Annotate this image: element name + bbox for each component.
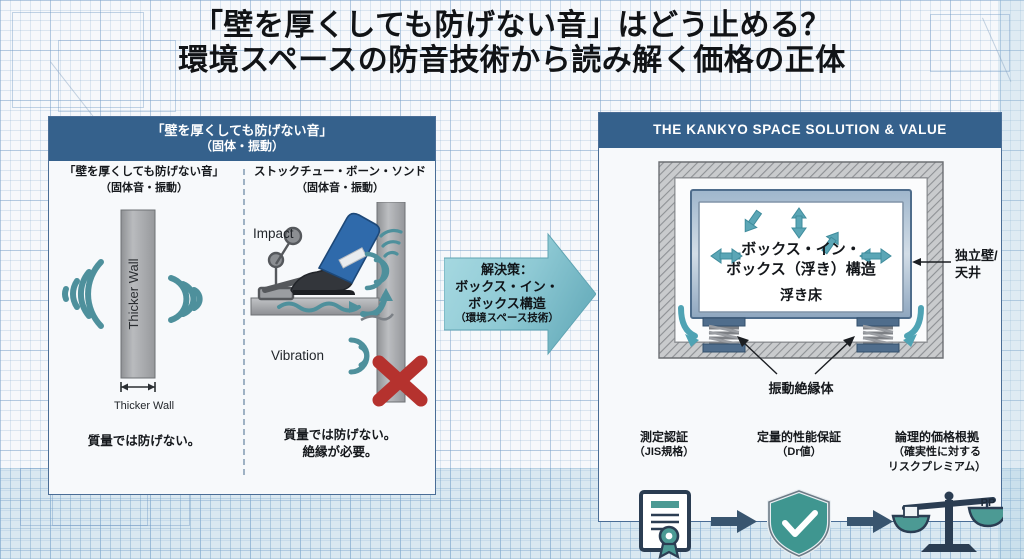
solution-arrow: 解決策： ボックス・イン・ ボックス構造 （環境スペース技術） [444,232,596,356]
metric-pricing-sub-1: （確実性に対する [875,445,999,459]
problem-column-impact-caption-line-1: 質量では防げない。 [245,427,435,444]
problem-column-airborne-title-line-1: 「壁を厚くしても防げない音」 [49,165,239,181]
wall-callout-line-1: 独立壁/ [955,248,1007,265]
certificate-icon [641,492,689,557]
impact-label-text: Impact [253,226,294,241]
solution-card: THE KANKYO SPACE SOLUTION & VALUE [598,112,1002,522]
inner-label-line-2: ボックス（浮き）構造 [726,260,876,278]
isolator-callout-label: 振動絶縁体 [599,378,1003,397]
solution-arrow-line-3: ボックス構造 [468,296,546,313]
metric-column-certification: 測定認証 （JIS規格） [609,430,719,460]
problem-column-impact-caption: 質量では防げない。 絶縁が必要。 [245,427,435,461]
inner-label-line-1: ボックス・イン・ [741,241,861,258]
right-arrow-icon-2 [847,510,893,533]
wall-callout-label: 独立壁/ 天井 [955,248,1007,282]
page-title: 「壁を厚くしても防げない音」はどう止める？ 環境スペースの防音技術から読み解く価… [0,8,1024,79]
problem-column-impact-caption-line-2: 絶縁が必要。 [245,444,435,461]
problem-card-body: 「壁を厚くしても防げない音」 （固体音・振動） [49,161,435,483]
balance-scale-icon: PP [893,491,1003,552]
problem-card: 「壁を厚くしても防げない音」 （固体・振動） 「壁を厚くしても防げない音」 （固… [48,116,436,495]
problem-card-header-line-2: （固体・振動） [53,139,431,154]
solution-arrow-line-4: （環境スペース技術） [455,312,559,325]
problem-column-airborne-caption-line-1: 質量では防げない。 [49,433,239,450]
problem-column-impact-title-line-1: ストックチュー・ボーン・ソンド [245,165,435,181]
thicker-wall-dimension-label: Thicker Wall [49,400,239,412]
solution-arrow-line-2: ボックス・イン・ [455,279,559,296]
metric-pricing-sub-2: リスクプレミアム） [875,460,999,474]
wall-callout-line-2: 天井 [955,265,1007,282]
vibration-label-text: Vibration [271,348,324,363]
problem-column-airborne-title-line-2: （固体音・振動） [49,181,239,196]
problem-column-airborne-caption: 質量では防げない。 [49,433,239,450]
shield-check-icon [769,491,829,556]
impact-vibration-illustration: Impact Vibration [245,202,435,407]
problem-card-header-line-1: 「壁を厚くしても防げない音」 [53,123,431,139]
problem-column-impact-title-line-2: （固体音・振動） [245,181,435,196]
metric-pricing-title: 論理的価格根拠 [875,430,999,446]
impact-vibration-figure: Impact Vibration [245,202,435,432]
problem-column-impact-title: ストックチュー・ボーン・ソンド （固体音・振動） [245,165,435,195]
metric-performance-title: 定量的性能保証 [729,430,869,446]
solution-card-header: THE KANKYO SPACE SOLUTION & VALUE [599,113,1001,148]
title-line-2: 環境スペースの防音技術から読み解く価格の正体 [0,43,1024,78]
scale-badge-label: PP [981,497,996,509]
thicker-wall-illustration: Thicker Wall [49,204,239,404]
right-arrow-icon-1 [711,510,757,533]
box-in-box-diagram: ボックス・イン・ ボックス（浮き）構造 浮き床 [599,150,1003,385]
problem-column-airborne: 「壁を厚くしても防げない音」 （固体音・振動） [49,165,239,433]
problem-column-airborne-title: 「壁を厚くしても防げない音」 （固体音・振動） [49,165,239,195]
thicker-wall-vertical-label: Thicker Wall [126,258,141,329]
metric-column-pricing: 論理的価格根拠 （確実性に対する リスクプレミアム） [875,430,999,474]
metric-performance-sub-1: （Dr値） [729,445,869,459]
solution-card-body: ボックス・イン・ ボックス（浮き）構造 浮き床 [599,148,1001,503]
infographic-canvas: 「壁を厚くしても防げない音」はどう止める？ 環境スペースの防音技術から読み解く価… [0,0,1024,559]
metric-column-performance: 定量的性能保証 （Dr値） [729,430,869,460]
solution-arrow-text: 解決策： ボックス・イン・ ボックス構造 （環境スペース技術） [444,232,596,356]
floating-floor-label: 浮き床 [780,287,823,303]
problem-card-header: 「壁を厚くしても防げない音」 （固体・振動） [49,117,435,161]
metric-certification-title: 測定認証 [609,430,719,446]
title-line-1: 「壁を厚くしても防げない音」はどう止める？ [0,8,1024,43]
value-flow-icons: PP [599,486,1003,559]
problem-column-impact: ストックチュー・ボーン・ソンド （固体音・振動） [245,165,435,431]
leg-shape [319,213,379,282]
thicker-wall-figure: Thicker Wall Thicker Wall [49,204,239,434]
metric-certification-sub-1: （JIS規格） [609,445,719,459]
solution-arrow-line-1: 解決策： [481,262,533,279]
